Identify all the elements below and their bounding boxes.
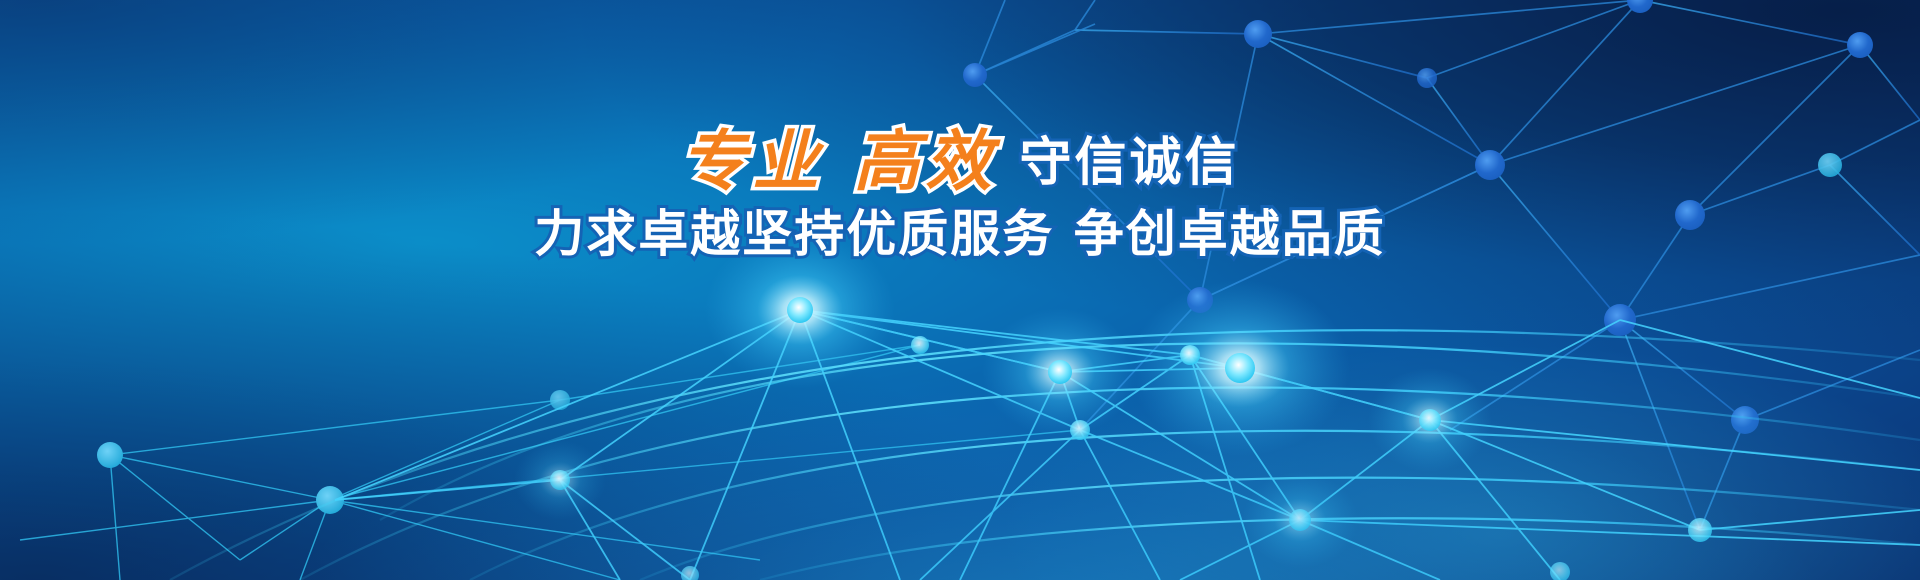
hero-banner: 专业 高效守信诚信 力求卓越坚持优质服务 争创卓越品质 xyxy=(0,0,1920,580)
lower-ambient-glow xyxy=(0,0,1920,580)
